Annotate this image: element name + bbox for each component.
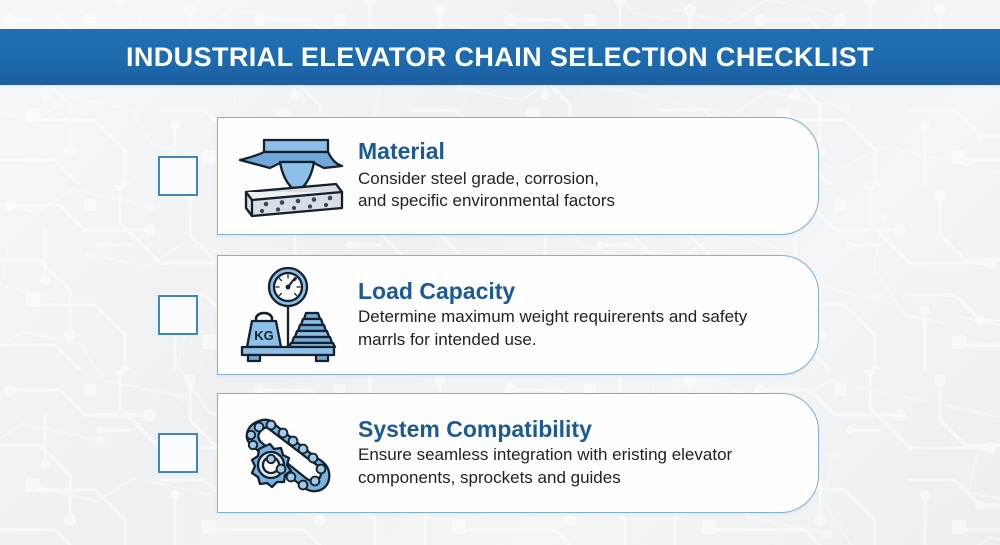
checklist-row-material: Material Consider steel grade, corrosion…: [0, 117, 1000, 235]
card-description-system-compatibility: Ensure seamless integration with eristin…: [358, 444, 798, 489]
scale-kg-label: KG: [254, 328, 274, 343]
card-material[interactable]: Material Consider steel grade, corrosion…: [217, 117, 819, 235]
card-load-capacity[interactable]: KG Load Capacity Determine maximum weigh…: [217, 255, 819, 375]
checkbox-material[interactable]: [158, 156, 198, 196]
weighing-scale-icon: KG: [218, 256, 358, 374]
checkbox-load-capacity[interactable]: [158, 295, 198, 335]
card-text-system-compatibility: System Compatibility Ensure seamless int…: [358, 417, 818, 489]
checklist-row-system-compatibility: System Compatibility Ensure seamless int…: [0, 393, 1000, 513]
card-title-system-compatibility: System Compatibility: [358, 417, 798, 442]
card-title-load-capacity: Load Capacity: [358, 279, 798, 304]
page-title: INDUSTRIAL ELEVATOR CHAIN SELECTION CHEC…: [126, 42, 874, 73]
chain-sprocket-icon: [218, 394, 358, 512]
card-text-load-capacity: Load Capacity Determine maximum weight r…: [358, 279, 818, 351]
card-text-material: Material Consider steel grade, corrosion…: [358, 139, 818, 212]
anvil-icon: [218, 118, 358, 234]
header-banner: INDUSTRIAL ELEVATOR CHAIN SELECTION CHEC…: [0, 29, 1000, 85]
card-description-load-capacity: Determine maximum weight requirerents an…: [358, 306, 798, 351]
card-title-material: Material: [358, 139, 798, 164]
card-system-compatibility[interactable]: System Compatibility Ensure seamless int…: [217, 393, 819, 513]
card-description-material: Consider steel grade, corrosion, and spe…: [358, 168, 798, 213]
checklist-row-load-capacity: KG Load Capacity Determine maximum weigh…: [0, 255, 1000, 375]
checkbox-system-compatibility[interactable]: [158, 433, 198, 473]
